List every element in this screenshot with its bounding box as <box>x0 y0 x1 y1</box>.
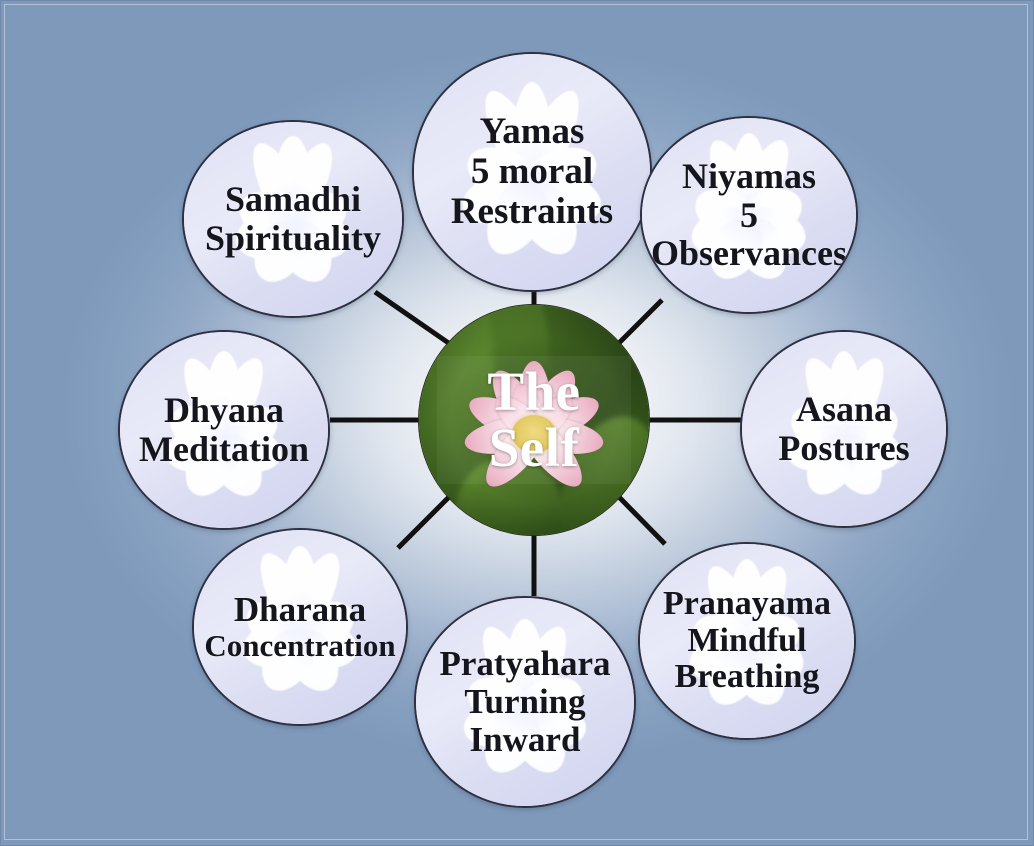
node-label-line-2: Turning <box>439 683 610 721</box>
center-label-line-2: Self <box>489 417 580 478</box>
node-dharana[interactable]: Dharana Concentration <box>192 528 408 726</box>
node-yamas[interactable]: Yamas 5 moral Restraints <box>412 52 652 292</box>
node-label-niyamas: Niyamas 5 Observances <box>651 157 847 274</box>
node-samadhi[interactable]: Samadhi Spirituality <box>182 120 404 318</box>
node-pranayama[interactable]: Pranayama Mindful Breathing <box>638 542 856 740</box>
node-label-asana: Asana Postures <box>778 390 909 468</box>
node-label-line-1: Niyamas <box>651 157 847 196</box>
node-label-line-3: Observances <box>651 234 847 273</box>
node-label-line-2: Postures <box>778 429 909 468</box>
yoga-eight-limbs-diagram: Yamas 5 moral Restraints Niyamas 5 Obser… <box>0 0 1034 846</box>
node-label-line-1: Pranayama <box>663 586 831 623</box>
node-label-line-2: Spirituality <box>205 219 381 258</box>
center-label: The Self <box>487 364 580 476</box>
node-label-dharana: Dharana Concentration <box>204 591 395 662</box>
node-label-line-3: Restraints <box>451 192 613 232</box>
node-pratyahara[interactable]: Pratyahara Turning Inward <box>414 596 636 808</box>
node-dhyana[interactable]: Dhyana Meditation <box>118 330 330 530</box>
node-label-line-3: Inward <box>439 721 610 759</box>
node-asana[interactable]: Asana Postures <box>740 330 948 528</box>
node-label-pranayama: Pranayama Mindful Breathing <box>663 586 831 696</box>
node-label-pratyahara: Pratyahara Turning Inward <box>439 645 610 758</box>
node-label-line-3: Breathing <box>663 659 831 696</box>
node-label-line-2: Concentration <box>204 629 395 662</box>
node-label-line-2: Meditation <box>139 430 309 469</box>
center-label-line-1: The <box>487 361 580 422</box>
node-label-line-1: Dhyana <box>139 391 309 430</box>
node-label-line-2: Mindful <box>663 623 831 660</box>
node-label-line-1: Pratyahara <box>439 645 610 683</box>
node-niyamas[interactable]: Niyamas 5 Observances <box>640 116 858 314</box>
node-label-dhyana: Dhyana Meditation <box>139 391 309 469</box>
node-label-line-1: Dharana <box>204 591 395 629</box>
node-label-line-1: Asana <box>778 390 909 429</box>
node-label-line-1: Samadhi <box>205 180 381 219</box>
node-label-line-2: 5 moral <box>451 152 613 192</box>
node-label-line-2: 5 <box>651 196 847 235</box>
node-label-yamas: Yamas 5 moral Restraints <box>451 112 613 232</box>
node-label-line-1: Yamas <box>451 112 613 152</box>
node-the-self[interactable]: The Self <box>418 304 650 536</box>
node-label-samadhi: Samadhi Spirituality <box>205 180 381 258</box>
